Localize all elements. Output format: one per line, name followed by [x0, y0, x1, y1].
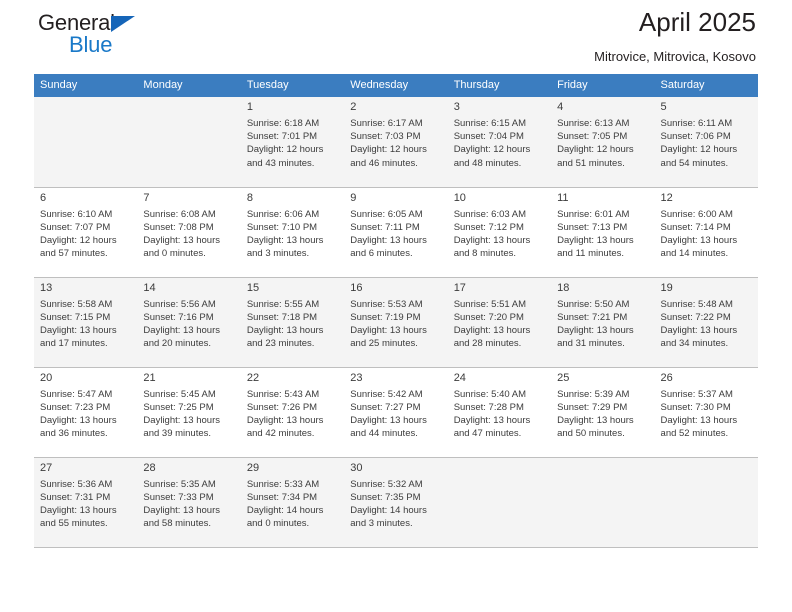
day-number: 5: [661, 100, 752, 114]
day-number: 18: [557, 281, 648, 295]
day-sun-details: Sunrise: 6:18 AM Sunset: 7:01 PM Dayligh…: [247, 117, 338, 170]
calendar-empty-cell: [34, 97, 137, 187]
day-number: 7: [143, 191, 234, 205]
day-sun-details: Sunrise: 6:17 AM Sunset: 7:03 PM Dayligh…: [350, 117, 441, 170]
day-sun-details: Sunrise: 6:11 AM Sunset: 7:06 PM Dayligh…: [661, 117, 752, 170]
day-sun-details: Sunrise: 6:03 AM Sunset: 7:12 PM Dayligh…: [454, 208, 545, 261]
day-sun-details: Sunrise: 6:00 AM Sunset: 7:14 PM Dayligh…: [661, 208, 752, 261]
day-sun-details: Sunrise: 5:43 AM Sunset: 7:26 PM Dayligh…: [247, 388, 338, 441]
day-cell-content: 23Sunrise: 5:42 AM Sunset: 7:27 PM Dayli…: [344, 368, 447, 457]
day-sun-details: Sunrise: 5:33 AM Sunset: 7:34 PM Dayligh…: [247, 478, 338, 531]
calendar-day-cell[interactable]: 24Sunrise: 5:40 AM Sunset: 7:28 PM Dayli…: [448, 367, 551, 457]
day-number: 11: [557, 191, 648, 205]
day-number: 10: [454, 191, 545, 205]
day-sun-details: Sunrise: 5:37 AM Sunset: 7:30 PM Dayligh…: [661, 388, 752, 441]
calendar-day-cell[interactable]: 20Sunrise: 5:47 AM Sunset: 7:23 PM Dayli…: [34, 367, 137, 457]
day-cell-content: 6Sunrise: 6:10 AM Sunset: 7:07 PM Daylig…: [34, 188, 137, 277]
day-cell-content: 1Sunrise: 6:18 AM Sunset: 7:01 PM Daylig…: [241, 97, 344, 187]
calendar-day-cell[interactable]: 28Sunrise: 5:35 AM Sunset: 7:33 PM Dayli…: [137, 457, 240, 547]
day-sun-details: Sunrise: 5:36 AM Sunset: 7:31 PM Dayligh…: [40, 478, 131, 531]
day-cell-content: 10Sunrise: 6:03 AM Sunset: 7:12 PM Dayli…: [448, 188, 551, 277]
day-sun-details: Sunrise: 5:48 AM Sunset: 7:22 PM Dayligh…: [661, 298, 752, 351]
day-cell-content: [137, 97, 240, 187]
day-number: 8: [247, 191, 338, 205]
calendar-week-row: 6Sunrise: 6:10 AM Sunset: 7:07 PM Daylig…: [34, 187, 758, 277]
calendar-empty-cell: [551, 457, 654, 547]
logo[interactable]: General Blue: [38, 10, 228, 68]
weekday-header-friday: Friday: [551, 74, 654, 97]
day-sun-details: Sunrise: 6:13 AM Sunset: 7:05 PM Dayligh…: [557, 117, 648, 170]
day-cell-content: [551, 458, 654, 547]
calendar-day-cell[interactable]: 10Sunrise: 6:03 AM Sunset: 7:12 PM Dayli…: [448, 187, 551, 277]
day-number: 9: [350, 191, 441, 205]
calendar-day-cell[interactable]: 5Sunrise: 6:11 AM Sunset: 7:06 PM Daylig…: [655, 97, 758, 187]
day-cell-content: 12Sunrise: 6:00 AM Sunset: 7:14 PM Dayli…: [655, 188, 758, 277]
calendar-day-cell[interactable]: 1Sunrise: 6:18 AM Sunset: 7:01 PM Daylig…: [241, 97, 344, 187]
day-cell-content: 29Sunrise: 5:33 AM Sunset: 7:34 PM Dayli…: [241, 458, 344, 547]
day-cell-content: [34, 97, 137, 187]
day-cell-content: 17Sunrise: 5:51 AM Sunset: 7:20 PM Dayli…: [448, 278, 551, 367]
calendar-grid: Sunday Monday Tuesday Wednesday Thursday…: [34, 74, 758, 548]
weekday-header-monday: Monday: [137, 74, 240, 97]
weekday-header-saturday: Saturday: [655, 74, 758, 97]
day-sun-details: Sunrise: 5:40 AM Sunset: 7:28 PM Dayligh…: [454, 388, 545, 441]
day-cell-content: 8Sunrise: 6:06 AM Sunset: 7:10 PM Daylig…: [241, 188, 344, 277]
day-number: 1: [247, 100, 338, 114]
calendar-day-cell[interactable]: 29Sunrise: 5:33 AM Sunset: 7:34 PM Dayli…: [241, 457, 344, 547]
day-sun-details: Sunrise: 5:55 AM Sunset: 7:18 PM Dayligh…: [247, 298, 338, 351]
day-cell-content: 4Sunrise: 6:13 AM Sunset: 7:05 PM Daylig…: [551, 97, 654, 187]
day-cell-content: 25Sunrise: 5:39 AM Sunset: 7:29 PM Dayli…: [551, 368, 654, 457]
day-sun-details: Sunrise: 5:45 AM Sunset: 7:25 PM Dayligh…: [143, 388, 234, 441]
calendar-day-cell[interactable]: 15Sunrise: 5:55 AM Sunset: 7:18 PM Dayli…: [241, 277, 344, 367]
calendar-day-cell[interactable]: 27Sunrise: 5:36 AM Sunset: 7:31 PM Dayli…: [34, 457, 137, 547]
day-cell-content: 20Sunrise: 5:47 AM Sunset: 7:23 PM Dayli…: [34, 368, 137, 457]
weekday-header-sunday: Sunday: [34, 74, 137, 97]
day-cell-content: 13Sunrise: 5:58 AM Sunset: 7:15 PM Dayli…: [34, 278, 137, 367]
day-sun-details: Sunrise: 5:56 AM Sunset: 7:16 PM Dayligh…: [143, 298, 234, 351]
day-sun-details: Sunrise: 5:47 AM Sunset: 7:23 PM Dayligh…: [40, 388, 131, 441]
day-cell-content: 3Sunrise: 6:15 AM Sunset: 7:04 PM Daylig…: [448, 97, 551, 187]
day-number: 28: [143, 461, 234, 475]
day-cell-content: 30Sunrise: 5:32 AM Sunset: 7:35 PM Dayli…: [344, 458, 447, 547]
day-cell-content: 21Sunrise: 5:45 AM Sunset: 7:25 PM Dayli…: [137, 368, 240, 457]
day-number: 2: [350, 100, 441, 114]
day-sun-details: Sunrise: 6:08 AM Sunset: 7:08 PM Dayligh…: [143, 208, 234, 261]
calendar-day-cell[interactable]: 12Sunrise: 6:00 AM Sunset: 7:14 PM Dayli…: [655, 187, 758, 277]
day-cell-content: 26Sunrise: 5:37 AM Sunset: 7:30 PM Dayli…: [655, 368, 758, 457]
weekday-header-thursday: Thursday: [448, 74, 551, 97]
calendar-empty-cell: [448, 457, 551, 547]
calendar-empty-cell: [137, 97, 240, 187]
day-number: 12: [661, 191, 752, 205]
calendar-day-cell[interactable]: 23Sunrise: 5:42 AM Sunset: 7:27 PM Dayli…: [344, 367, 447, 457]
day-cell-content: 14Sunrise: 5:56 AM Sunset: 7:16 PM Dayli…: [137, 278, 240, 367]
day-sun-details: Sunrise: 5:39 AM Sunset: 7:29 PM Dayligh…: [557, 388, 648, 441]
calendar-week-row: 20Sunrise: 5:47 AM Sunset: 7:23 PM Dayli…: [34, 367, 758, 457]
day-number: 13: [40, 281, 131, 295]
calendar-day-cell[interactable]: 30Sunrise: 5:32 AM Sunset: 7:35 PM Dayli…: [344, 457, 447, 547]
day-cell-content: 27Sunrise: 5:36 AM Sunset: 7:31 PM Dayli…: [34, 458, 137, 547]
day-cell-content: 24Sunrise: 5:40 AM Sunset: 7:28 PM Dayli…: [448, 368, 551, 457]
calendar-day-cell[interactable]: 19Sunrise: 5:48 AM Sunset: 7:22 PM Dayli…: [655, 277, 758, 367]
day-number: 24: [454, 371, 545, 385]
calendar-week-row: 1Sunrise: 6:18 AM Sunset: 7:01 PM Daylig…: [34, 97, 758, 187]
day-sun-details: Sunrise: 6:05 AM Sunset: 7:11 PM Dayligh…: [350, 208, 441, 261]
day-number: 17: [454, 281, 545, 295]
day-number: 3: [454, 100, 545, 114]
day-sun-details: Sunrise: 6:15 AM Sunset: 7:04 PM Dayligh…: [454, 117, 545, 170]
day-cell-content: 15Sunrise: 5:55 AM Sunset: 7:18 PM Dayli…: [241, 278, 344, 367]
title-block: April 2025 Mitrovice, Mitrovica, Kosovo: [594, 6, 756, 66]
day-cell-content: 16Sunrise: 5:53 AM Sunset: 7:19 PM Dayli…: [344, 278, 447, 367]
day-cell-content: 5Sunrise: 6:11 AM Sunset: 7:06 PM Daylig…: [655, 97, 758, 187]
day-sun-details: Sunrise: 6:01 AM Sunset: 7:13 PM Dayligh…: [557, 208, 648, 261]
calendar-day-cell[interactable]: 16Sunrise: 5:53 AM Sunset: 7:19 PM Dayli…: [344, 277, 447, 367]
calendar-day-cell[interactable]: 8Sunrise: 6:06 AM Sunset: 7:10 PM Daylig…: [241, 187, 344, 277]
day-number: 16: [350, 281, 441, 295]
day-number: 22: [247, 371, 338, 385]
weekday-header-tuesday: Tuesday: [241, 74, 344, 97]
day-number: 29: [247, 461, 338, 475]
calendar-day-cell[interactable]: 18Sunrise: 5:50 AM Sunset: 7:21 PM Dayli…: [551, 277, 654, 367]
day-cell-content: 7Sunrise: 6:08 AM Sunset: 7:08 PM Daylig…: [137, 188, 240, 277]
calendar-day-cell[interactable]: 17Sunrise: 5:51 AM Sunset: 7:20 PM Dayli…: [448, 277, 551, 367]
day-number: 21: [143, 371, 234, 385]
calendar-body: 1Sunrise: 6:18 AM Sunset: 7:01 PM Daylig…: [34, 97, 758, 547]
day-sun-details: Sunrise: 6:06 AM Sunset: 7:10 PM Dayligh…: [247, 208, 338, 261]
day-number: 15: [247, 281, 338, 295]
day-number: 30: [350, 461, 441, 475]
day-cell-content: 19Sunrise: 5:48 AM Sunset: 7:22 PM Dayli…: [655, 278, 758, 367]
calendar-day-cell[interactable]: 9Sunrise: 6:05 AM Sunset: 7:11 PM Daylig…: [344, 187, 447, 277]
calendar-day-cell[interactable]: 11Sunrise: 6:01 AM Sunset: 7:13 PM Dayli…: [551, 187, 654, 277]
calendar-day-cell[interactable]: 26Sunrise: 5:37 AM Sunset: 7:30 PM Dayli…: [655, 367, 758, 457]
day-sun-details: Sunrise: 5:51 AM Sunset: 7:20 PM Dayligh…: [454, 298, 545, 351]
day-number: 23: [350, 371, 441, 385]
day-sun-details: Sunrise: 5:53 AM Sunset: 7:19 PM Dayligh…: [350, 298, 441, 351]
day-sun-details: Sunrise: 5:42 AM Sunset: 7:27 PM Dayligh…: [350, 388, 441, 441]
calendar-day-cell[interactable]: 6Sunrise: 6:10 AM Sunset: 7:07 PM Daylig…: [34, 187, 137, 277]
day-number: 4: [557, 100, 648, 114]
day-sun-details: Sunrise: 5:35 AM Sunset: 7:33 PM Dayligh…: [143, 478, 234, 531]
day-sun-details: Sunrise: 6:10 AM Sunset: 7:07 PM Dayligh…: [40, 208, 131, 261]
day-sun-details: Sunrise: 5:50 AM Sunset: 7:21 PM Dayligh…: [557, 298, 648, 351]
page-title: April 2025: [594, 6, 756, 38]
calendar-day-cell[interactable]: 13Sunrise: 5:58 AM Sunset: 7:15 PM Dayli…: [34, 277, 137, 367]
weekday-header-wednesday: Wednesday: [344, 74, 447, 97]
day-cell-content: 18Sunrise: 5:50 AM Sunset: 7:21 PM Dayli…: [551, 278, 654, 367]
calendar-day-cell[interactable]: 22Sunrise: 5:43 AM Sunset: 7:26 PM Dayli…: [241, 367, 344, 457]
day-cell-content: [448, 458, 551, 547]
calendar-week-row: 27Sunrise: 5:36 AM Sunset: 7:31 PM Dayli…: [34, 457, 758, 547]
day-sun-details: Sunrise: 5:58 AM Sunset: 7:15 PM Dayligh…: [40, 298, 131, 351]
calendar-day-cell[interactable]: 14Sunrise: 5:56 AM Sunset: 7:16 PM Dayli…: [137, 277, 240, 367]
calendar-day-cell[interactable]: 21Sunrise: 5:45 AM Sunset: 7:25 PM Dayli…: [137, 367, 240, 457]
day-cell-content: [655, 458, 758, 547]
calendar-day-cell[interactable]: 2Sunrise: 6:17 AM Sunset: 7:03 PM Daylig…: [344, 97, 447, 187]
day-cell-content: 11Sunrise: 6:01 AM Sunset: 7:13 PM Dayli…: [551, 188, 654, 277]
weekday-header-row: Sunday Monday Tuesday Wednesday Thursday…: [34, 74, 758, 97]
day-number: 27: [40, 461, 131, 475]
day-sun-details: Sunrise: 5:32 AM Sunset: 7:35 PM Dayligh…: [350, 478, 441, 531]
calendar-day-cell[interactable]: 7Sunrise: 6:08 AM Sunset: 7:08 PM Daylig…: [137, 187, 240, 277]
calendar-week-row: 13Sunrise: 5:58 AM Sunset: 7:15 PM Dayli…: [34, 277, 758, 367]
day-number: 19: [661, 281, 752, 295]
page-subtitle: Mitrovice, Mitrovica, Kosovo: [594, 48, 756, 66]
calendar-page: General Blue April 2025 Mitrovice, Mitro…: [0, 0, 792, 612]
calendar-day-cell[interactable]: 3Sunrise: 6:15 AM Sunset: 7:04 PM Daylig…: [448, 97, 551, 187]
calendar-day-cell[interactable]: 25Sunrise: 5:39 AM Sunset: 7:29 PM Dayli…: [551, 367, 654, 457]
page-header: General Blue April 2025 Mitrovice, Mitro…: [34, 0, 758, 74]
day-number: 25: [557, 371, 648, 385]
day-cell-content: 28Sunrise: 5:35 AM Sunset: 7:33 PM Dayli…: [137, 458, 240, 547]
day-cell-content: 2Sunrise: 6:17 AM Sunset: 7:03 PM Daylig…: [344, 97, 447, 187]
day-number: 20: [40, 371, 131, 385]
logo-text-blue: Blue: [69, 32, 112, 58]
day-number: 26: [661, 371, 752, 385]
triangle-icon: [111, 16, 135, 32]
calendar-empty-cell: [655, 457, 758, 547]
day-number: 14: [143, 281, 234, 295]
day-number: 6: [40, 191, 131, 205]
day-cell-content: 9Sunrise: 6:05 AM Sunset: 7:11 PM Daylig…: [344, 188, 447, 277]
day-cell-content: 22Sunrise: 5:43 AM Sunset: 7:26 PM Dayli…: [241, 368, 344, 457]
calendar-day-cell[interactable]: 4Sunrise: 6:13 AM Sunset: 7:05 PM Daylig…: [551, 97, 654, 187]
